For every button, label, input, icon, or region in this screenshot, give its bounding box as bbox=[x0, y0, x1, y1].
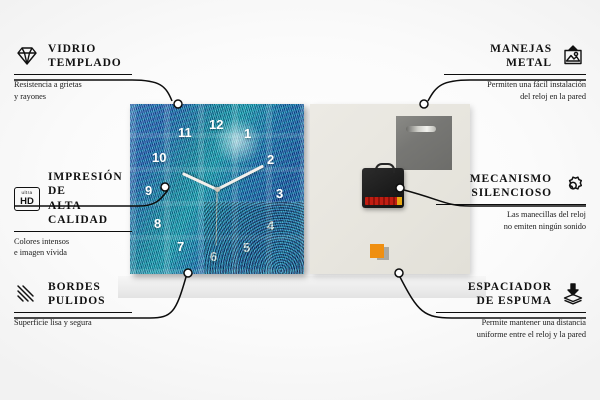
feature-mecanismo-silencioso[interactable]: MECANISMO SILENCIOSO Las manecillas del … bbox=[436, 172, 586, 232]
feature-header: MECANISMO SILENCIOSO bbox=[436, 172, 586, 201]
hanger-slot bbox=[406, 126, 436, 132]
feature-title: MECANISMO SILENCIOSO bbox=[470, 172, 552, 201]
feature-description: Las manecillas del reloj no emiten ningú… bbox=[436, 209, 586, 231]
feature-divider bbox=[444, 74, 586, 76]
feature-header: ESPACIADOR DE ESPUMA bbox=[436, 280, 586, 309]
clock-number-7: 7 bbox=[177, 240, 184, 253]
ultra-hd-icon: ultra HD bbox=[14, 187, 40, 211]
product-shelf-surface bbox=[118, 276, 486, 298]
clock-mechanism-box bbox=[362, 168, 404, 208]
product-photo: 12 1 2 3 4 5 6 7 8 9 10 11 bbox=[130, 104, 470, 276]
feature-header: BORDES PULIDOS bbox=[14, 280, 140, 309]
battery-tip bbox=[397, 197, 402, 205]
clock-number-4: 4 bbox=[267, 219, 274, 232]
clock-number-9: 9 bbox=[145, 184, 152, 197]
feature-bordes-pulidos[interactable]: BORDES PULIDOS Superficie lisa y segura bbox=[14, 280, 140, 329]
clock-number-10: 10 bbox=[152, 151, 166, 164]
diagonal-stripes-icon bbox=[14, 282, 40, 306]
feature-title: BORDES PULIDOS bbox=[48, 280, 105, 309]
clock-number-3: 3 bbox=[276, 187, 283, 200]
clock-number-12: 12 bbox=[209, 118, 223, 131]
feature-manejas-metal[interactable]: MANEJAS METAL Permiten una fácil instala… bbox=[444, 42, 586, 102]
feature-title: VIDRIO TEMPLADO bbox=[48, 42, 122, 71]
clock-number-8: 8 bbox=[154, 217, 161, 230]
feature-description: Colores intensos e imagen vívida bbox=[14, 236, 142, 258]
feature-header: MANEJAS METAL bbox=[444, 42, 586, 71]
picture-frame-icon bbox=[560, 44, 586, 68]
mechanism-hanging-loop bbox=[375, 163, 395, 173]
infographic-canvas: 12 1 2 3 4 5 6 7 8 9 10 11 bbox=[0, 0, 600, 400]
battery-strip bbox=[365, 197, 401, 205]
feature-description: Permite mantener una distancia uniforme … bbox=[436, 317, 586, 339]
feature-header: ultra HD IMPRESIÓN DE ALTA CALIDAD bbox=[14, 170, 142, 228]
gear-icon bbox=[560, 174, 586, 198]
clock-front-face: 12 1 2 3 4 5 6 7 8 9 10 11 bbox=[130, 104, 304, 274]
clock-number-2: 2 bbox=[267, 153, 274, 166]
foam-spacer bbox=[370, 244, 384, 258]
clock-center-cap bbox=[215, 187, 220, 192]
clock-number-1: 1 bbox=[244, 127, 251, 140]
feature-divider bbox=[436, 312, 586, 314]
clock-hour-hand bbox=[182, 172, 218, 191]
diamond-icon bbox=[14, 44, 40, 68]
metal-hanger-plate bbox=[396, 116, 452, 170]
foam-spacer-icon bbox=[560, 282, 586, 306]
feature-divider bbox=[14, 231, 132, 233]
feature-espaciador-espuma[interactable]: ESPACIADOR DE ESPUMA Permite mantener un… bbox=[436, 280, 586, 340]
feature-vidrio-templado[interactable]: VIDRIO TEMPLADO Resistencia a grietas y … bbox=[14, 42, 136, 102]
clock-number-11: 11 bbox=[178, 126, 192, 139]
feature-divider bbox=[436, 204, 586, 206]
feature-header: VIDRIO TEMPLADO bbox=[14, 42, 136, 71]
feature-impresion-alta-calidad[interactable]: ultra HD IMPRESIÓN DE ALTA CALIDAD Color… bbox=[14, 170, 142, 258]
clock-number-6: 6 bbox=[210, 250, 217, 263]
ultra-hd-icon-large-label: HD bbox=[20, 197, 34, 207]
feature-divider bbox=[14, 74, 132, 76]
feature-title: IMPRESIÓN DE ALTA CALIDAD bbox=[48, 170, 142, 228]
feature-description: Permiten una fácil instalación del reloj… bbox=[444, 79, 586, 101]
clock-second-hand bbox=[215, 190, 217, 246]
clock-number-5: 5 bbox=[243, 241, 250, 254]
feature-title: ESPACIADOR DE ESPUMA bbox=[468, 280, 552, 309]
feature-divider bbox=[14, 312, 132, 314]
clock-minute-hand bbox=[216, 165, 264, 191]
feature-title: MANEJAS METAL bbox=[490, 42, 552, 71]
feature-description: Resistencia a grietas y rayones bbox=[14, 79, 136, 101]
feature-description: Superficie lisa y segura bbox=[14, 317, 140, 328]
